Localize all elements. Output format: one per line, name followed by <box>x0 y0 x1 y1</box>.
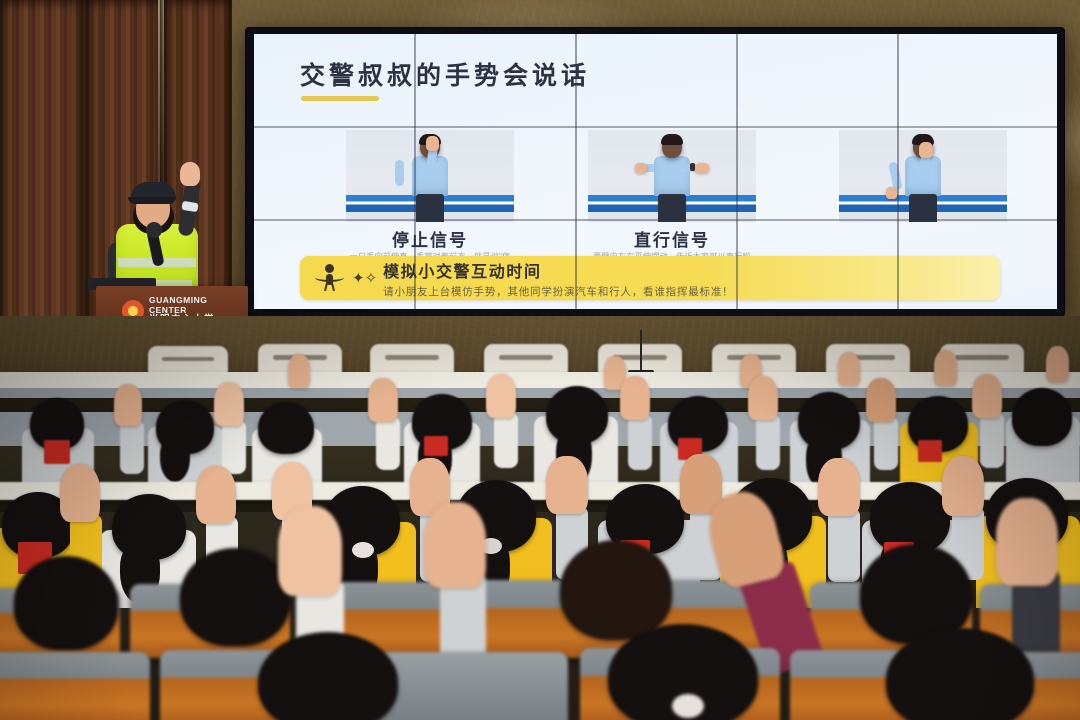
hair-scrunchie <box>672 694 704 718</box>
auditorium-seat <box>372 652 568 720</box>
raised-hand <box>546 456 588 514</box>
raised-hand <box>866 378 896 422</box>
raised-hand <box>114 384 142 426</box>
raised-hand <box>972 374 1002 418</box>
auditorium-seat <box>0 652 150 720</box>
gesture-card-group: 停止信号 一只手向前伸直，手掌对着前方，就是说"停止" <box>294 130 1034 240</box>
raised-arm <box>494 412 518 468</box>
chair-back <box>484 344 568 374</box>
raised-hand <box>1046 346 1069 382</box>
screen-surface: 交警叔叔的手势会说话 <box>254 34 1057 309</box>
raised-arm <box>874 416 898 470</box>
raised-arm <box>120 420 144 474</box>
raised-arm <box>828 508 860 582</box>
hair-scrunchie <box>352 542 374 558</box>
officer-right-hand <box>426 136 439 151</box>
chair-back <box>148 346 228 374</box>
desk-surface <box>0 372 1080 388</box>
school-name-en: GUANGMING CENTER <box>149 296 238 315</box>
banner-text-block: 模拟小交警互动时间 请小朋友上台模仿手势，其他同学扮演汽车和行人，看谁指挥最标准… <box>383 258 733 299</box>
officer-right-hand <box>695 163 709 173</box>
raised-hand <box>748 376 778 420</box>
officer-torso <box>654 156 690 196</box>
student-head <box>180 548 290 646</box>
presenter-police-cap <box>131 182 176 202</box>
red-scarf <box>44 440 70 464</box>
gesture-caption-title: 直行信号 <box>588 226 756 251</box>
raised-hand <box>288 354 310 388</box>
raised-hand <box>60 464 100 522</box>
red-scarf <box>918 440 942 462</box>
raised-hand <box>996 498 1058 586</box>
officer-legs <box>909 194 937 222</box>
banner-title: 模拟小交警互动时间 <box>383 258 733 282</box>
gesture-card <box>839 130 1007 226</box>
officer-legs <box>416 194 444 222</box>
red-scarf <box>424 436 448 456</box>
student-head <box>258 402 314 454</box>
gesture-card: 停止信号 一只手向前伸直，手掌对着前方，就是说"停止" <box>346 130 514 274</box>
student-ponytail <box>160 436 190 482</box>
gesture-card: 直行信号 两臂向左右平伸摆动，告诉大家可以直行啦 <box>588 130 756 263</box>
raised-hand <box>368 378 398 422</box>
desk-front-panel <box>0 388 1080 398</box>
sparkle-icon: ✦✧ <box>352 271 377 286</box>
student-head <box>1012 388 1072 446</box>
student-head <box>560 540 672 640</box>
raised-hand <box>620 376 650 420</box>
officer-left-hand <box>635 163 647 173</box>
officer-hair <box>661 134 683 145</box>
officer-photo-stop-signal <box>346 130 514 222</box>
slide-title: 交警叔叔的手势会说话 <box>300 56 590 92</box>
raised-arm <box>756 414 780 470</box>
officer-left-hand <box>886 187 897 199</box>
interactive-activity-banner: ✦✧ 模拟小交警互动时间 请小朋友上台模仿手势，其他同学扮演汽车和行人，看谁指挥… <box>300 256 1000 300</box>
raised-hand <box>424 502 486 588</box>
presentation-slide: 交警叔叔的手势会说话 <box>254 34 1057 309</box>
raised-arm <box>376 416 400 470</box>
student-audience <box>0 316 1080 720</box>
presenter-raised-hand <box>180 162 200 186</box>
raised-hand <box>942 456 984 516</box>
photo-scene: 交警叔叔的手势会说话 <box>0 0 1080 720</box>
microphone-head <box>146 222 162 238</box>
raised-arm <box>628 414 652 470</box>
raised-hand <box>214 382 244 426</box>
raised-hand <box>486 374 516 418</box>
officer-figure-arms-horizontal <box>635 132 709 222</box>
raised-hand <box>818 458 860 516</box>
officer-figure-hand-raised <box>393 132 467 222</box>
student-head <box>14 556 118 650</box>
title-underline-accent <box>301 96 379 101</box>
raised-arm <box>980 412 1004 468</box>
gooseneck-microphone-stand <box>640 330 642 374</box>
officer-left-arm <box>395 160 404 186</box>
banner-subtitle: 请小朋友上台模仿手势，其他同学扮演汽车和行人，看谁指挥最标准！ <box>383 284 733 299</box>
video-wall-display[interactable]: 交警叔叔的手势会说话 <box>246 28 1064 316</box>
traffic-police-figure-icon <box>314 263 344 293</box>
officer-legs <box>658 194 686 222</box>
gesture-caption-title: 停止信号 <box>346 226 514 251</box>
chair-back <box>370 344 454 374</box>
raised-hand <box>838 352 860 386</box>
raised-hand <box>278 506 342 596</box>
raised-hand <box>196 466 236 524</box>
officer-right-hand <box>919 142 933 158</box>
officer-figure-palm-forward <box>886 132 960 222</box>
raised-arm <box>222 420 246 474</box>
raised-hand <box>934 350 957 386</box>
officer-photo-palm-forward <box>839 130 1007 222</box>
officer-photo-straight-signal <box>588 130 756 222</box>
